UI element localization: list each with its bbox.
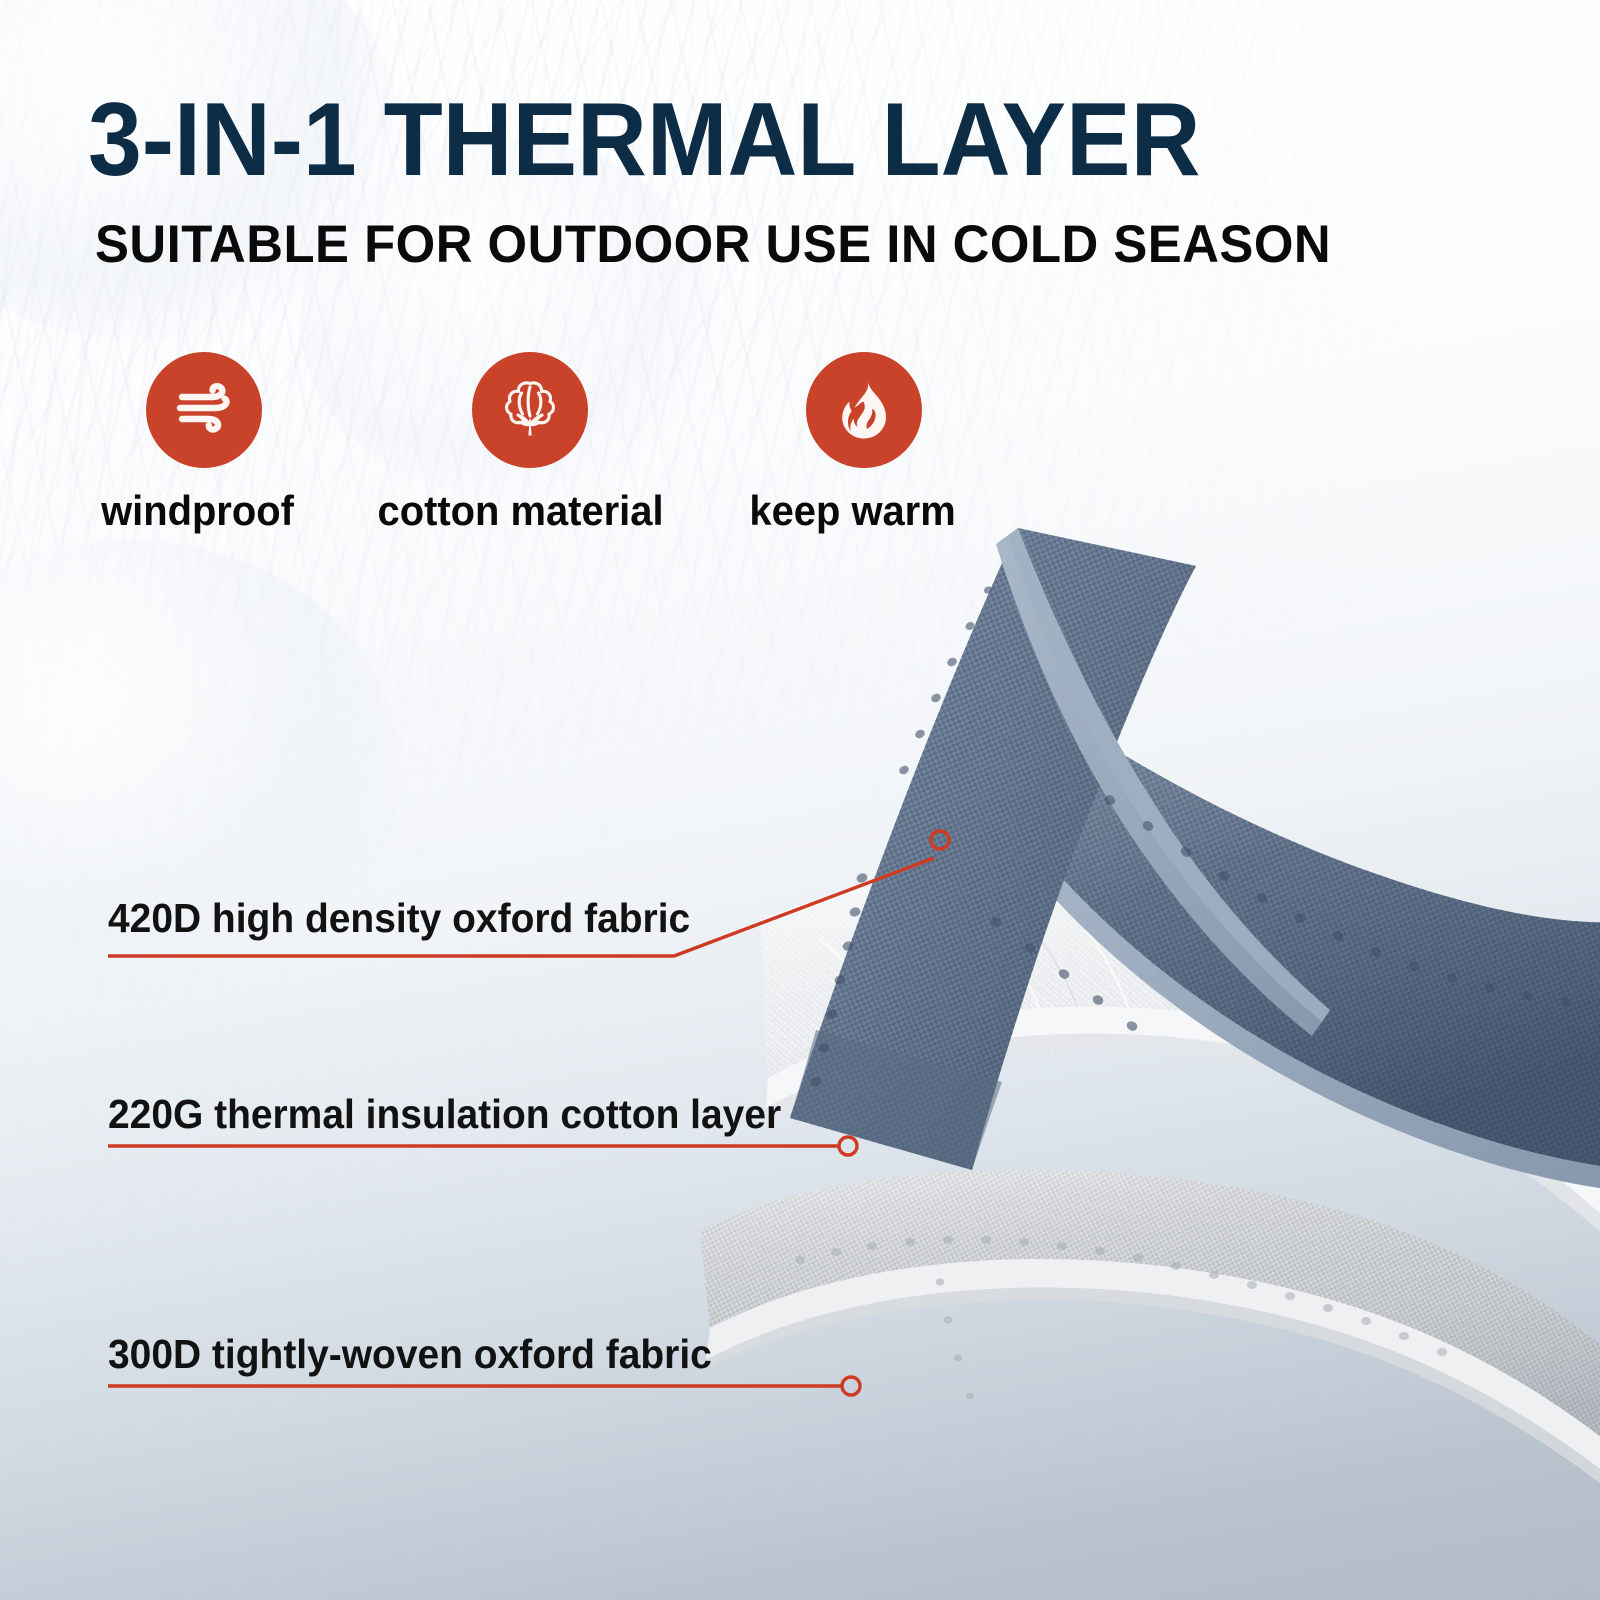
wind-icon: [168, 372, 240, 449]
badge-circle-windproof: [146, 352, 262, 468]
cotton-icon: [493, 371, 567, 450]
badge-circle-cotton: [472, 352, 588, 468]
feature-label-windproof: windproof: [101, 488, 294, 534]
callout-top-layer: 420D high density oxford fabric: [108, 852, 988, 962]
page-subtitle: SUITABLE FOR OUTDOOR USE IN COLD SEASON: [95, 218, 1331, 271]
feature-windproof: windproof: [96, 352, 299, 534]
callout-middle-layer: 220G thermal insulation cotton layer: [108, 1100, 888, 1152]
feature-label-cotton-material: cotton material: [378, 488, 664, 534]
badge-circle-keep-warm: [806, 352, 922, 468]
page-title: 3-IN-1 THERMAL LAYER: [88, 88, 1200, 192]
layer-lining-oxford-300d: [700, 1170, 1600, 1506]
flame-icon: [829, 373, 899, 448]
callout-bottom-layer: 300D tightly-woven oxford fabric: [108, 1340, 888, 1392]
feature-cotton-material: cotton material: [370, 352, 671, 534]
fabric-layers-illustration: [640, 470, 1600, 1560]
infographic-poster: 3-IN-1 THERMAL LAYER SUITABLE FOR OUTDOO…: [0, 0, 1600, 1600]
